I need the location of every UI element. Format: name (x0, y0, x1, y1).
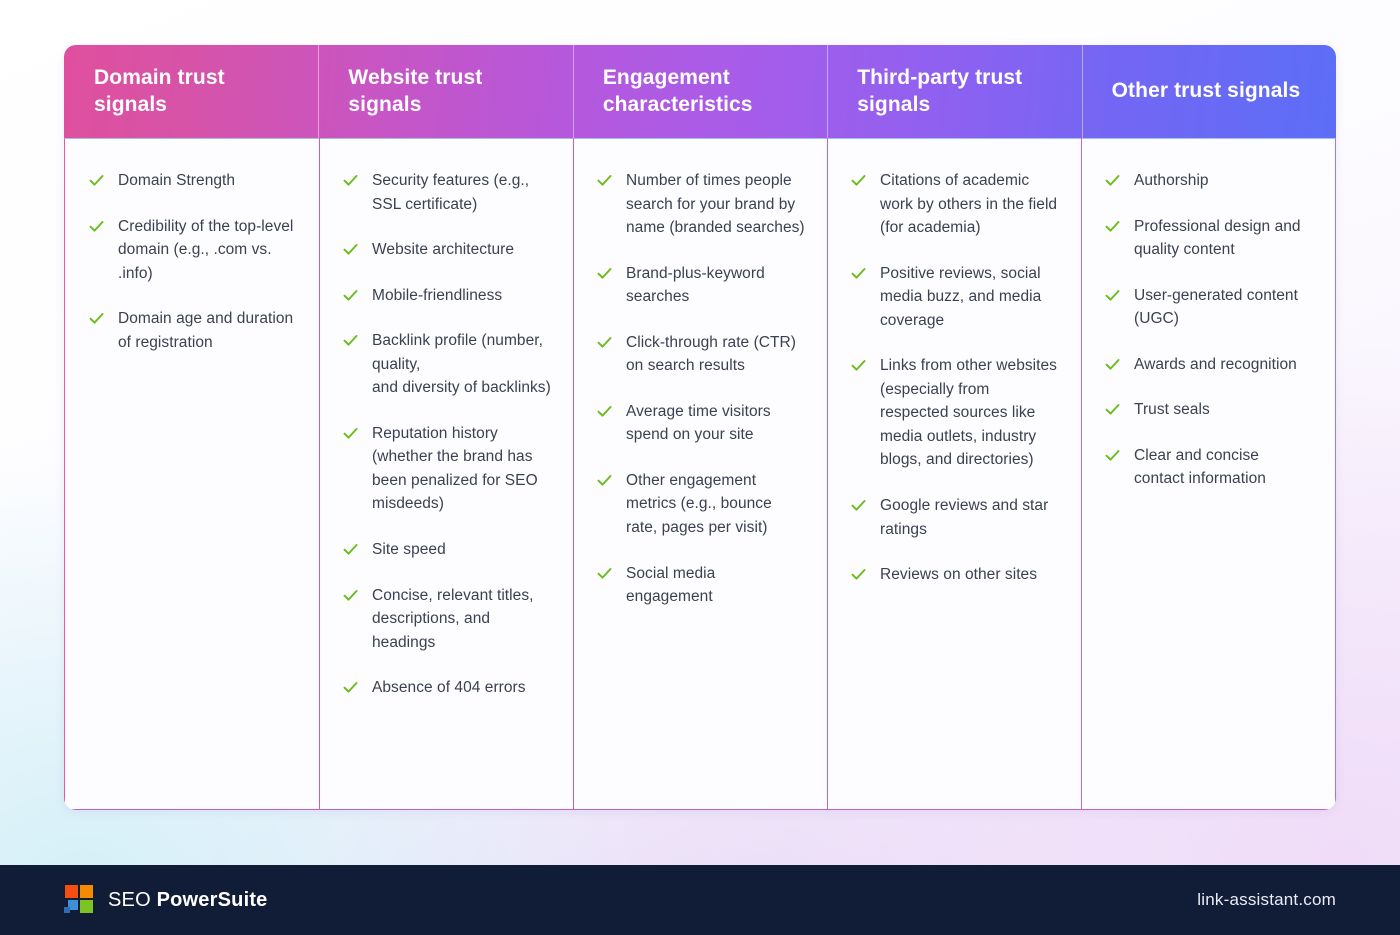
check-icon (343, 542, 358, 558)
list-item: Links from other websites (especially fr… (851, 354, 1059, 472)
column-body-other-trust-signals: AuthorshipProfessional design and qualit… (1081, 139, 1335, 809)
check-icon (343, 288, 358, 304)
brand-name-light: SEO (108, 889, 157, 911)
column-header-website-trust-signals: Website trust signals (318, 45, 572, 138)
list-item-label: Clear and concise contact information (1134, 444, 1313, 491)
check-icon (343, 588, 358, 604)
list-item: Domain age and duration of registration (89, 307, 297, 354)
signal-list: Domain StrengthCredibility of the top-le… (89, 169, 297, 354)
column-body-engagement-characteristics: Number of times people search for your b… (573, 139, 827, 809)
list-item: Authorship (1105, 169, 1313, 193)
column-header-domain-trust-signals: Domain trust signals (64, 45, 318, 138)
list-item: Security features (e.g., SSL certificate… (343, 169, 551, 216)
list-item: Brand-plus-keyword searches (597, 262, 805, 309)
list-item-label: Website architecture (372, 238, 514, 262)
column-body-third-party-trust-signals: Citations of academic work by others in … (827, 139, 1081, 809)
list-item-label: Trust seals (1134, 398, 1210, 422)
list-item-label: Links from other websites (especially fr… (880, 354, 1059, 472)
column-header-label: Other trust signals (1112, 78, 1301, 105)
check-icon (1105, 219, 1120, 235)
list-item-label: Positive reviews, social media buzz, and… (880, 262, 1059, 333)
list-item-label: Click-through rate (CTR) on search resul… (626, 331, 805, 378)
list-item-label: Reputation history (whether the brand ha… (372, 422, 551, 516)
list-item: Citations of academic work by others in … (851, 169, 1059, 240)
logo-square-red (65, 885, 78, 898)
list-item: Credibility of the top-level domain (e.g… (89, 215, 297, 286)
check-icon (343, 242, 358, 258)
list-item-label: Concise, relevant titles, descriptions, … (372, 584, 551, 655)
column-header-label: Domain trust signals (94, 65, 294, 119)
column-body-website-trust-signals: Security features (e.g., SSL certificate… (319, 139, 573, 809)
list-item: Absence of 404 errors (343, 676, 551, 700)
check-icon (851, 498, 866, 514)
seo-powersuite-squares-icon (64, 885, 94, 915)
list-item-label: Domain age and duration of registration (118, 307, 297, 354)
list-item-label: Domain Strength (118, 169, 235, 193)
signal-list: AuthorshipProfessional design and qualit… (1105, 169, 1313, 491)
list-item: Other engagement metrics (e.g., bounce r… (597, 469, 805, 540)
check-icon (89, 219, 104, 235)
check-icon (89, 173, 104, 189)
check-icon (851, 266, 866, 282)
list-item-label: Security features (e.g., SSL certificate… (372, 169, 551, 216)
list-item-label: Other engagement metrics (e.g., bounce r… (626, 469, 805, 540)
list-item: Professional design and quality content (1105, 215, 1313, 262)
list-item-label: Site speed (372, 538, 446, 562)
list-item: Click-through rate (CTR) on search resul… (597, 331, 805, 378)
check-icon (1105, 402, 1120, 418)
logo-square-blue-small (64, 907, 70, 913)
check-icon (597, 404, 612, 420)
brand-name-bold: PowerSuite (157, 889, 268, 911)
column-header-third-party-trust-signals: Third-party trust signals (827, 45, 1081, 138)
list-item-label: Absence of 404 errors (372, 676, 526, 700)
list-item-label: Citations of academic work by others in … (880, 169, 1059, 240)
column-header-other-trust-signals: Other trust signals (1082, 45, 1336, 138)
check-icon (597, 566, 612, 582)
column-header-label: Engagement characteristics (603, 65, 803, 119)
list-item: Mobile-friendliness (343, 284, 551, 308)
check-icon (597, 335, 612, 351)
check-icon (851, 358, 866, 374)
logo-square-orange (80, 885, 93, 898)
list-item: Google reviews and star ratings (851, 494, 1059, 541)
list-item-label: Brand-plus-keyword searches (626, 262, 805, 309)
list-item: Reviews on other sites (851, 563, 1059, 587)
signal-list: Citations of academic work by others in … (851, 169, 1059, 587)
signal-list: Number of times people search for your b… (597, 169, 805, 609)
table-header-row: Domain trust signals Website trust signa… (64, 45, 1336, 138)
list-item: Concise, relevant titles, descriptions, … (343, 584, 551, 655)
list-item: Domain Strength (89, 169, 297, 193)
list-item: Clear and concise contact information (1105, 444, 1313, 491)
list-item-label: Mobile-friendliness (372, 284, 502, 308)
column-header-label: Website trust signals (348, 65, 548, 119)
column-header-engagement-characteristics: Engagement characteristics (573, 45, 827, 138)
check-icon (343, 173, 358, 189)
list-item: Awards and recognition (1105, 353, 1313, 377)
signal-list: Security features (e.g., SSL certificate… (343, 169, 551, 700)
check-icon (1105, 288, 1120, 304)
list-item: Number of times people search for your b… (597, 169, 805, 240)
list-item-label: Average time visitors spend on your site (626, 400, 805, 447)
list-item: Positive reviews, social media buzz, and… (851, 262, 1059, 333)
brand-lockup: SEO PowerSuite (64, 885, 268, 915)
list-item-label: Reviews on other sites (880, 563, 1037, 587)
list-item-label: Awards and recognition (1134, 353, 1297, 377)
list-item-label: Credibility of the top-level domain (e.g… (118, 215, 297, 286)
check-icon (343, 680, 358, 696)
page-footer: SEO PowerSuite link-assistant.com (0, 865, 1400, 935)
check-icon (597, 173, 612, 189)
table-body-row: Domain StrengthCredibility of the top-le… (64, 138, 1336, 810)
list-item: Site speed (343, 538, 551, 562)
list-item-label: Number of times people search for your b… (626, 169, 805, 240)
list-item: Average time visitors spend on your site (597, 400, 805, 447)
check-icon (343, 426, 358, 442)
check-icon (597, 266, 612, 282)
column-header-label: Third-party trust signals (857, 65, 1057, 119)
check-icon (1105, 448, 1120, 464)
check-icon (89, 311, 104, 327)
trust-signals-table-card: Domain trust signals Website trust signa… (64, 45, 1336, 810)
list-item: Social media engagement (597, 562, 805, 609)
list-item: Website architecture (343, 238, 551, 262)
list-item-label: Professional design and quality content (1134, 215, 1313, 262)
check-icon (343, 333, 358, 349)
check-icon (851, 173, 866, 189)
check-icon (597, 473, 612, 489)
list-item: Reputation history (whether the brand ha… (343, 422, 551, 516)
check-icon (851, 567, 866, 583)
list-item-label: Google reviews and star ratings (880, 494, 1059, 541)
footer-url: link-assistant.com (1197, 890, 1336, 910)
list-item: Trust seals (1105, 398, 1313, 422)
check-icon (1105, 357, 1120, 373)
list-item-label: Authorship (1134, 169, 1209, 193)
column-body-domain-trust-signals: Domain StrengthCredibility of the top-le… (65, 139, 319, 809)
list-item: Backlink profile (number, quality, and d… (343, 329, 551, 400)
list-item-label: User-generated content (UGC) (1134, 284, 1313, 331)
list-item-label: Backlink profile (number, quality, and d… (372, 329, 551, 400)
logo-square-green (80, 900, 93, 913)
brand-name: SEO PowerSuite (108, 889, 268, 912)
check-icon (1105, 173, 1120, 189)
list-item-label: Social media engagement (626, 562, 805, 609)
list-item: User-generated content (UGC) (1105, 284, 1313, 331)
